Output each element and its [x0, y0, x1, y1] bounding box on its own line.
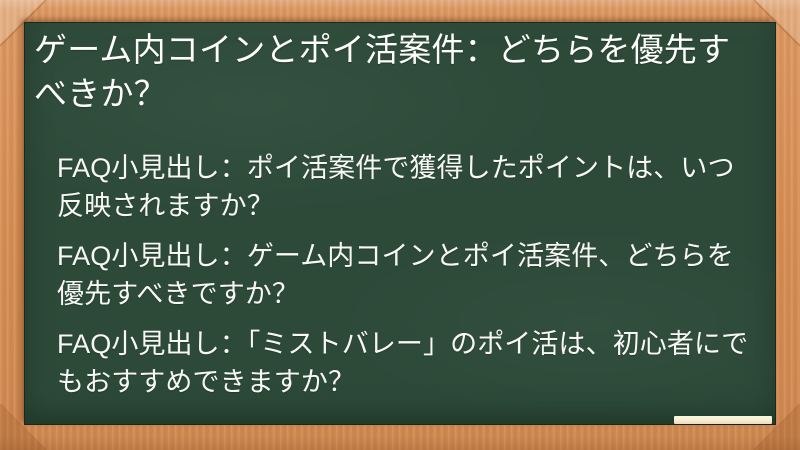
list-item: FAQ小見出し：ポイ活案件で獲得したポイントは、いつ反映されますか？: [34, 149, 760, 225]
chalk-stick: [674, 416, 772, 424]
list-item: FAQ小見出し：ゲーム内コインとポイ活案件、どちらを優先すべきですか？: [34, 237, 760, 313]
faq-list: FAQ小見出し：ポイ活案件で獲得したポイントは、いつ反映されますか？ FAQ小見…: [34, 149, 760, 401]
chalkboard-surface: ゲーム内コインとポイ活案件：どちらを優先すべきか？ FAQ小見出し：ポイ活案件で…: [24, 22, 776, 425]
page-title: ゲーム内コインとポイ活案件：どちらを優先すべきか？: [34, 28, 756, 116]
blackboard-card: ゲーム内コインとポイ活案件：どちらを優先すべきか？ FAQ小見出し：ポイ活案件で…: [0, 0, 800, 450]
list-item: FAQ小見出し：「ミストバレー」のポイ活は、初心者にでもおすすめできますか？: [34, 325, 760, 401]
